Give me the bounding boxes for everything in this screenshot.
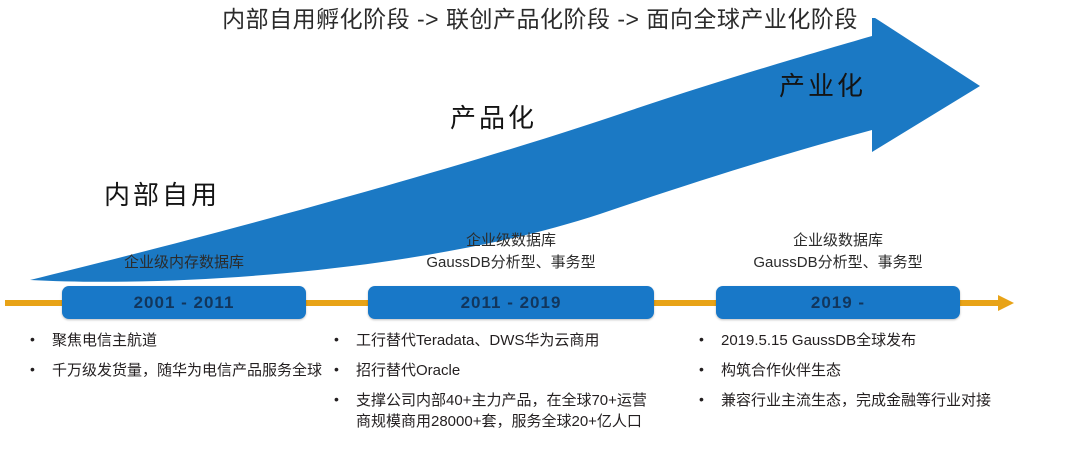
list-item: 构筑合作伙伴生态	[695, 360, 1065, 381]
list-item: 工行替代Teradata、DWS华为云商用	[330, 330, 660, 351]
timeline-segment	[955, 300, 1000, 306]
list-item: 支撑公司内部40+主力产品，在全球70+运营商规模商用28000+套，服务全球2…	[330, 390, 660, 432]
list-item: 兼容行业主流生态，完成金融等行业对接	[695, 390, 1065, 411]
phase-caption-line: GaussDB分析型、事务型	[368, 252, 654, 274]
list-item: 2019.5.15 GaussDB全球发布	[695, 330, 1065, 351]
phase-bullets-2: 工行替代Teradata、DWS华为云商用 招行替代Oracle 支撑公司内部4…	[330, 330, 660, 441]
timeline-segment	[5, 300, 65, 306]
phase-caption-1: 企业级内存数据库	[62, 252, 306, 274]
arrow-label-product: 产品化	[450, 104, 537, 134]
timeline-arrowhead-icon	[998, 295, 1014, 311]
phase-bullets-1: 聚焦电信主航道 千万级发货量，随华为电信产品服务全球	[26, 330, 326, 390]
list-item: 聚焦电信主航道	[26, 330, 326, 351]
phase-caption-line: 企业级数据库	[716, 230, 960, 252]
list-item: 招行替代Oracle	[330, 360, 660, 381]
phase-caption-line: GaussDB分析型、事务型	[716, 252, 960, 274]
phase-caption-2: 企业级数据库 GaussDB分析型、事务型	[368, 230, 654, 274]
timeline-badge-2[interactable]: 2011 - 2019	[368, 286, 654, 319]
phase-bullets-3: 2019.5.15 GaussDB全球发布 构筑合作伙伴生态 兼容行业主流生态，…	[695, 330, 1065, 420]
timeline-badge-1[interactable]: 2001 - 2011	[62, 286, 306, 319]
list-item: 千万级发货量，随华为电信产品服务全球	[26, 360, 326, 381]
phase-caption-line: 企业级内存数据库	[62, 252, 306, 274]
timeline-badge-3[interactable]: 2019 -	[716, 286, 960, 319]
timeline-segment	[300, 300, 370, 306]
arrow-label-internal: 内部自用	[104, 181, 220, 211]
timeline: 2001 - 2011 2011 - 2019 2019 -	[0, 286, 1080, 320]
phase-caption-line: 企业级数据库	[368, 230, 654, 252]
timeline-segment	[650, 300, 720, 306]
phase-caption-3: 企业级数据库 GaussDB分析型、事务型	[716, 230, 960, 274]
arrow-label-industry: 产业化	[779, 72, 866, 102]
